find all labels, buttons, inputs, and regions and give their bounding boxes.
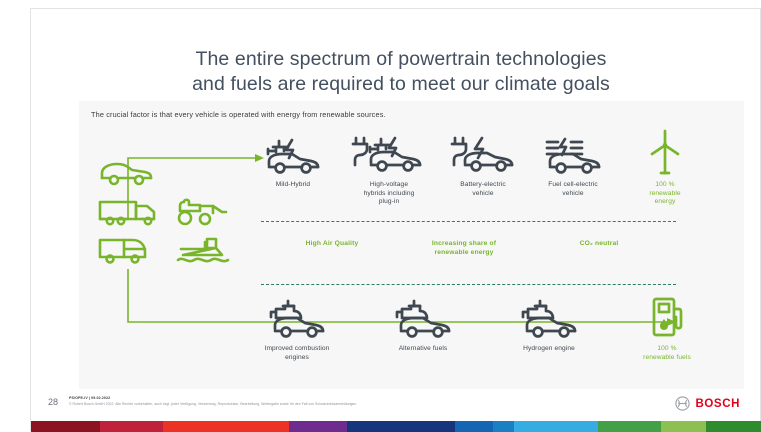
color-bar-segment-4 [347,421,455,432]
caption-fuel-cell: Fuel cell-electricvehicle [531,181,615,198]
divider-bottom [261,284,676,285]
color-bar-segment-10 [706,421,761,432]
bosch-logo: BOSCH [675,396,740,411]
plugin-hybrid-car-icon [344,129,434,175]
color-bar-segment-1 [100,421,163,432]
fuel-cell-car-icon [531,129,615,175]
hydrogen-engine-car-icon [501,293,597,339]
benefit-co2-neutral: CO₂ neutral [549,240,649,249]
battery-electric-car-icon [441,129,525,175]
color-bar-segment-2 [163,421,289,432]
caption-alternative-fuels: Alternative fuels [375,345,471,354]
column-hydrogen-engine: Hydrogen engine [501,293,597,354]
color-bar-segment-3 [289,421,348,432]
column-mild-hybrid: Mild-Hybrid [251,129,335,190]
caption-renewable-energy: 100 %renewableenergy [627,181,703,207]
color-bar-segment-9 [661,421,706,432]
divider-top [261,221,676,222]
column-fuel-cell: Fuel cell-electricvehicle [531,129,615,198]
caption-mild-hybrid: Mild-Hybrid [251,181,335,190]
column-battery-electric: Battery-electricvehicle [441,129,525,198]
bottom-technology-row: Improved combustionengines [79,293,744,383]
title-line-1: The entire spectrum of powertrain techno… [195,48,606,70]
color-bar-segment-0 [31,421,100,432]
caption-battery-electric: Battery-electricvehicle [441,181,525,198]
color-bar-segment-7 [514,421,598,432]
content-panel: The crucial factor is that every vehicle… [79,101,744,389]
top-technology-row: Mild-Hybrid [79,129,744,239]
column-improved-combustion: Improved combustionengines [247,293,347,362]
combustion-engine-car-icon [247,293,347,339]
brand-color-bar [31,421,761,432]
caption-renewable-fuels: 100 %renewable fuels [627,345,707,362]
caption-hydrogen-engine: Hydrogen engine [501,345,597,354]
alternative-fuels-car-icon [375,293,471,339]
column-alternative-fuels: Alternative fuels [375,293,471,354]
title-line-2: and fuels are required to meet our clima… [91,72,711,97]
bosch-symbol-icon [675,396,690,411]
benefit-high-air-quality: High Air Quality [277,240,387,249]
page-number: 28 [48,397,58,407]
bosch-wordmark: BOSCH [695,398,740,410]
color-bar-segment-8 [598,421,661,432]
mild-hybrid-car-icon [251,129,335,175]
color-bar-segment-5 [455,421,493,432]
benefit-renewable-share: Increasing share ofrenewable energy [409,240,519,258]
column-renewable-energy: 100 %renewableenergy [627,129,703,207]
slide-footer: 28 PS/OPE-IV | 09.02.2022 © Robert Bosch… [31,391,761,421]
slide: The entire spectrum of powertrain techno… [30,8,761,431]
caption-improved-combustion: Improved combustionengines [247,345,347,362]
benefit-labels-row: High Air Quality Increasing share ofrene… [79,240,744,270]
department-date: PS/OPE-IV | 09.02.2022 [69,396,110,400]
page-title: The entire spectrum of powertrain techno… [91,47,711,97]
column-renewable-fuels: 100 %renewable fuels [627,293,707,362]
color-bar-segment-6 [493,421,513,432]
wind-turbine-icon [627,129,703,175]
caption-plugin-hybrid: High-voltagehybrids includingplug-in [344,181,434,207]
fuel-pump-icon [627,293,707,339]
column-plugin-hybrid: High-voltagehybrids includingplug-in [344,129,434,207]
subtitle: The crucial factor is that every vehicle… [91,110,386,119]
copyright-notice: © Robert Bosch GmbH 2022. Alle Rechte vo… [69,402,539,406]
